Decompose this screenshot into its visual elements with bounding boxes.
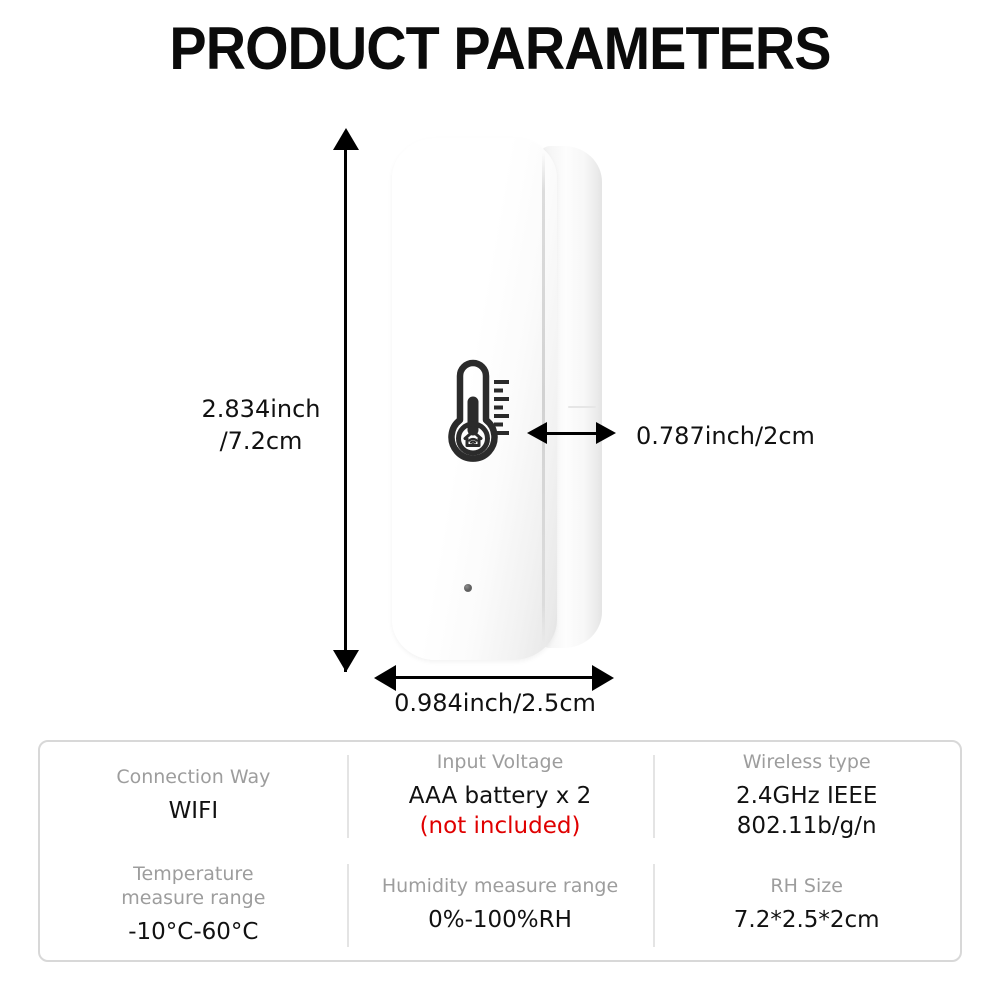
spec-value: 7.2*2.5*2cm xyxy=(734,906,880,936)
product-illustration: 2.834inch /7.2cm 0.787inch/2cm 0.984inch… xyxy=(0,110,1000,730)
spec-cell-rh-size: RH Size 7.2*2.5*2cm xyxy=(653,851,960,960)
spec-value: -10°C-60°C xyxy=(128,918,258,948)
spec-label: Humidity measure range xyxy=(382,875,618,899)
height-arrow-line xyxy=(344,146,347,672)
spec-value: 0%-100%RH xyxy=(428,906,572,936)
page-title: PRODUCT PARAMETERS xyxy=(35,14,965,83)
depth-arrow-head-right xyxy=(596,422,616,444)
height-arrow-head-bottom xyxy=(333,650,359,672)
depth-arrow-head-left xyxy=(527,422,547,444)
depth-arrow-line xyxy=(545,432,599,435)
product-device xyxy=(392,138,557,660)
device-side-notch xyxy=(568,406,596,408)
depth-dimension-label: 0.787inch/2cm xyxy=(636,421,815,453)
thermometer-wifi-home-icon xyxy=(434,350,524,470)
height-dimension-line1: 2.834inch xyxy=(202,395,321,423)
spec-label: Connection Way xyxy=(116,766,270,790)
led-indicator xyxy=(464,584,472,592)
spec-value-note: (not included) xyxy=(420,812,581,842)
spec-value: 2.4GHz IEEE xyxy=(736,782,877,812)
spec-value: AAA battery x 2 xyxy=(409,782,592,812)
spec-value-line2: 802.11b/g/n xyxy=(737,812,877,842)
spec-label-line1: Temperature xyxy=(133,863,253,887)
spec-value: WIFI xyxy=(169,797,219,827)
table-row: Connection Way WIFI Input Voltage AAA ba… xyxy=(40,742,960,851)
spec-cell-wireless-type: Wireless type 2.4GHz IEEE 802.11b/g/n xyxy=(653,742,960,851)
table-row: Temperature measure range -10°C-60°C Hum… xyxy=(40,851,960,960)
spec-label: Wireless type xyxy=(743,751,871,775)
specification-table: Connection Way WIFI Input Voltage AAA ba… xyxy=(38,740,962,962)
spec-cell-input-voltage: Input Voltage AAA battery x 2 (not inclu… xyxy=(347,742,654,851)
height-dimension-label: 2.834inch /7.2cm xyxy=(196,394,326,457)
spec-cell-humidity-range: Humidity measure range 0%-100%RH xyxy=(347,851,654,960)
spec-label: RH Size xyxy=(770,875,843,899)
height-dimension-line2: /7.2cm xyxy=(220,427,303,455)
spec-label-line2: measure range xyxy=(121,887,265,911)
spec-label: Input Voltage xyxy=(437,751,564,775)
width-dimension-label: 0.984inch/2.5cm xyxy=(370,688,620,720)
width-arrow-line xyxy=(394,676,594,679)
spec-cell-temperature-range: Temperature measure range -10°C-60°C xyxy=(40,851,347,960)
device-seam xyxy=(542,152,545,644)
spec-cell-connection-way: Connection Way WIFI xyxy=(40,742,347,851)
